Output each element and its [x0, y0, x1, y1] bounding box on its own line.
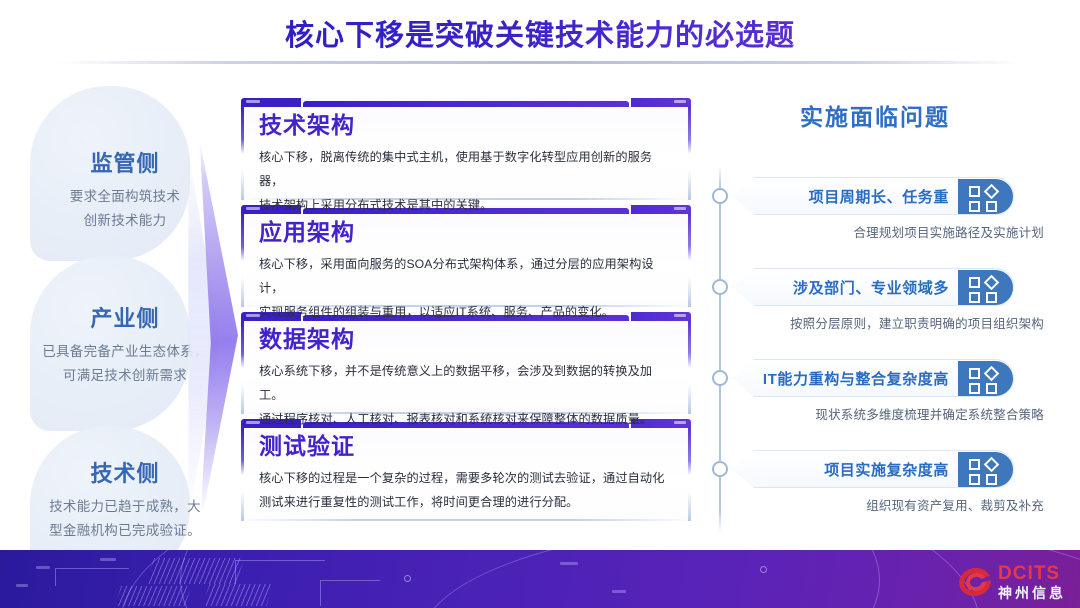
- footer-circuit-trace: [235, 560, 325, 584]
- issue-pill[interactable]: 涉及部门、专业领域多: [732, 268, 1014, 306]
- card-frame-bottom-left: [241, 491, 244, 521]
- card-body-line: 核心下移，采用面向服务的SOA分布式架构体系，通过分层的应用架构设计，: [259, 253, 675, 301]
- issue-description: 按照分层原则，建立职责明确的项目组织架构: [754, 313, 1044, 332]
- card-frame-right: [688, 320, 691, 368]
- page-title-area: 核心下移是突破关键技术能力的必选题: [0, 12, 1080, 54]
- footer-circuit-hatch: [115, 586, 191, 606]
- footer-circuit-trace: [320, 580, 380, 606]
- card-frame-bottom-left: [241, 384, 244, 414]
- card-frame-left: [241, 213, 244, 261]
- four-blocks-icon: [958, 452, 1013, 487]
- title-divider: [58, 61, 1022, 64]
- issue-label: IT能力重构与整合复杂度高: [763, 368, 958, 389]
- logo-name-cn: 神州信息: [998, 586, 1066, 600]
- left-group-line: 型金融机构已完成验证。: [0, 519, 250, 543]
- footer-dot-decoration: [404, 575, 411, 582]
- footer-circuit-trace: [55, 568, 129, 586]
- left-group-line: 要求全面构筑技术: [0, 185, 250, 209]
- right-column: 实施面临问题 项目周期长、任务重 合理规划项目实施路径及实施计划 涉及部门、专业…: [700, 98, 1050, 538]
- footer-circuit-hatch: [146, 558, 244, 584]
- architecture-card-list: 技术架构 核心下移，脱离传统的集中式主机，使用基于数字化转型应用创新的服务器， …: [241, 98, 691, 526]
- card-title: 应用架构: [259, 219, 675, 245]
- card-frame-bottom-right: [688, 491, 691, 521]
- card-title: 数据架构: [259, 326, 675, 352]
- issue-pill[interactable]: 项目实施复杂度高: [732, 450, 1014, 488]
- card-frame-bottom-right: [688, 170, 691, 200]
- card-frame-bottom: [243, 519, 689, 521]
- issue-pill[interactable]: 项目周期长、任务重: [732, 177, 1014, 215]
- issue-label: 涉及部门、专业领域多: [793, 277, 958, 298]
- logo-name-en: DCITS: [998, 564, 1066, 583]
- card-frame-bottom-left: [241, 277, 244, 307]
- card-body-line: 技术架构上采用分布式技术是其中的关键。: [259, 194, 675, 218]
- card-body-line: 通过程序核对、人工核对、报表核对和系统核对来保障整体的数据质量。: [259, 408, 675, 432]
- card-frame-corner-right: [631, 98, 691, 107]
- issue-pill[interactable]: IT能力重构与整合复杂度高: [732, 359, 1014, 397]
- issue-description: 合理规划项目实施路径及实施计划: [754, 222, 1044, 241]
- architecture-card: 应用架构 核心下移，采用面向服务的SOA分布式架构体系，通过分层的应用架构设计，…: [241, 205, 691, 307]
- four-blocks-icon: [958, 270, 1013, 305]
- issue-item: 涉及部门、专业领域多 按照分层原则，建立职责明确的项目组织架构: [700, 251, 1050, 342]
- card-frame-bottom-right: [688, 384, 691, 414]
- architecture-card: 数据架构 核心系统下移，并不是传统意义上的数据平移，会涉及到数据的转换及加工。 …: [241, 312, 691, 414]
- page-title: 核心下移是突破关键技术能力的必选题: [285, 12, 795, 54]
- card-frame-left: [241, 320, 244, 368]
- dcits-swirl-icon: [956, 565, 994, 599]
- footer-circuit-pad: [100, 558, 116, 561]
- card-body-line: 核心下移，脱离传统的集中式主机，使用基于数字化转型应用创新的服务器，: [259, 146, 675, 194]
- right-column-heading: 实施面临问题: [700, 98, 1050, 132]
- logo-text-group: DCITS 神州信息: [998, 564, 1066, 600]
- architecture-card: 测试验证 核心下移的过程是一个复杂的过程，需要多轮次的测试去验证，通过自动化 测…: [241, 419, 691, 521]
- card-body-line: 实现服务组件的组装与重用，以适应IT系统、服务、产品的变化。: [259, 301, 675, 325]
- issue-item: IT能力重构与整合复杂度高 现状系统多维度梳理并确定系统整合策略: [700, 342, 1050, 433]
- card-frame-right: [688, 427, 691, 475]
- card-frame-left: [241, 106, 244, 154]
- card-frame-bar: [303, 101, 629, 107]
- card-frame-corner-left: [241, 98, 301, 107]
- card-frame-top: [241, 98, 691, 107]
- card-frame-bottom-right: [688, 277, 691, 307]
- timeline-node-icon: [712, 188, 728, 204]
- card-body-line: 核心下移的过程是一个复杂的过程，需要多轮次的测试去验证，通过自动化: [259, 467, 675, 491]
- four-blocks-icon: [958, 179, 1013, 214]
- issue-label: 项目周期长、任务重: [809, 186, 958, 207]
- footer-band: DCITS 神州信息: [0, 550, 1080, 608]
- issue-label: 项目实施复杂度高: [824, 459, 958, 480]
- footer-dot-decoration: [760, 566, 767, 573]
- card-title: 技术架构: [259, 112, 675, 138]
- footer-circuit-hatch: [202, 584, 273, 606]
- card-frame-right: [688, 106, 691, 154]
- left-group-label: 监管侧: [0, 146, 250, 178]
- timeline-node-icon: [712, 279, 728, 295]
- timeline-node-icon: [712, 461, 728, 477]
- footer-circuit-pad: [612, 590, 626, 593]
- card-frame-right: [688, 213, 691, 261]
- slide-root: 核心下移是突破关键技术能力的必选题 监管侧 要求全面构筑技术 创新技术能力 产业…: [0, 0, 1080, 608]
- card-body-line: 测试来进行重复性的测试工作，将时间更合理的进行分配。: [259, 491, 675, 515]
- card-body-line: 核心系统下移，并不是传统意义上的数据平移，会涉及到数据的转换及加工。: [259, 360, 675, 408]
- card-frame-bottom-left: [241, 170, 244, 200]
- issue-description: 现状系统多维度梳理并确定系统整合策略: [754, 404, 1044, 423]
- issue-item: 项目周期长、任务重 合理规划项目实施路径及实施计划: [700, 160, 1050, 251]
- four-blocks-icon: [958, 361, 1013, 396]
- left-group-technology: 技术侧 技术能力已趋于成熟，大 型金融机构已完成验证。: [0, 456, 250, 542]
- timeline-node-icon: [712, 370, 728, 386]
- issue-description: 组织现有资产复用、裁剪及补充: [754, 495, 1044, 514]
- card-title: 测试验证: [259, 433, 675, 459]
- card-frame-left: [241, 427, 244, 475]
- company-logo: DCITS 神州信息: [956, 564, 1066, 600]
- footer-circuit-pad: [16, 584, 28, 587]
- footer-circuit-pad: [36, 566, 50, 569]
- footer-circuit-pad: [560, 562, 578, 565]
- left-group-line: 技术能力已趋于成熟，大: [0, 495, 250, 519]
- architecture-card: 技术架构 核心下移，脱离传统的集中式主机，使用基于数字化转型应用创新的服务器， …: [241, 98, 691, 200]
- issue-item: 项目实施复杂度高 组织现有资产复用、裁剪及补充: [700, 433, 1050, 524]
